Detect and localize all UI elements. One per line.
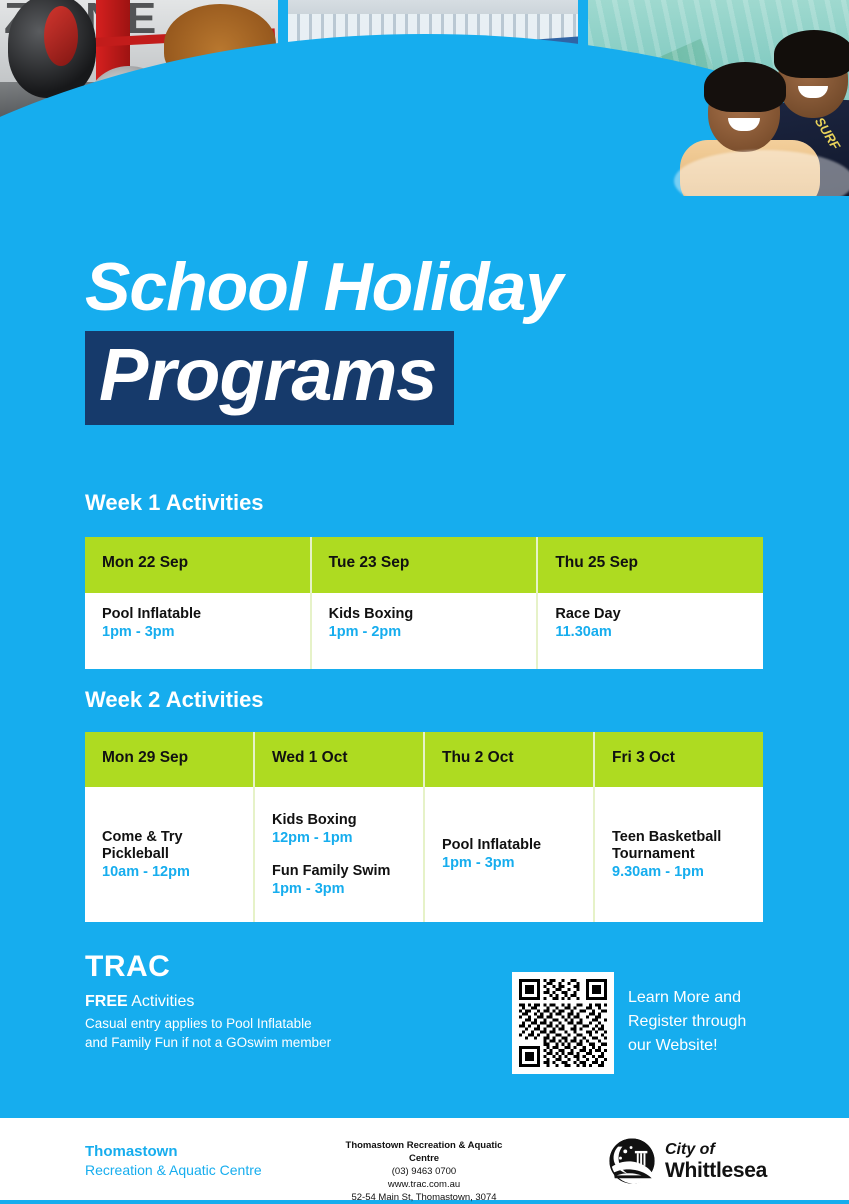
- activity-name: Race Day: [555, 606, 763, 623]
- day-header: Tue 23 Sep: [312, 537, 537, 593]
- week-1-heading: Week 1 Activities: [85, 490, 264, 516]
- day-body: Teen Basketball Tournament 9.30am - 1pm: [595, 787, 763, 922]
- qr-caption-line-2: Register through: [628, 1010, 746, 1034]
- hero-photo-band: ZONE City of Whittlesea SURF: [0, 0, 849, 232]
- table-column: Tue 23 Sep Kids Boxing 1pm - 2pm: [312, 537, 539, 669]
- trac-brand-line-2: Recreation & Aquatic Centre: [85, 1161, 262, 1179]
- day-header: Fri 3 Oct: [595, 732, 763, 787]
- activity-name: Kids Boxing: [272, 812, 423, 829]
- activity-time: 1pm - 3pm: [102, 623, 310, 641]
- qr-caption-line-3: our Website!: [628, 1034, 746, 1058]
- day-body: Pool Inflatable 1pm - 3pm: [85, 593, 310, 669]
- activities-label: Activities: [128, 993, 195, 1010]
- contact-phone: (03) 9463 0700: [334, 1165, 514, 1178]
- activity-time: 9.30am - 1pm: [612, 863, 763, 881]
- footer-contact-block: Thomastown Recreation & Aquatic Centre (…: [334, 1139, 514, 1204]
- contact-name: Thomastown Recreation & Aquatic Centre: [334, 1139, 514, 1165]
- day-header: Mon 29 Sep: [85, 732, 253, 787]
- trac-note-line-1: Casual entry applies to Pool Inflatable: [85, 1014, 331, 1033]
- week-2-heading: Week 2 Activities: [85, 687, 264, 713]
- trac-brand-line-1: Thomastown: [85, 1143, 262, 1161]
- trac-note: Casual entry applies to Pool Inflatable …: [85, 1014, 331, 1052]
- trac-heading: TRAC: [85, 950, 170, 984]
- day-body: Race Day 11.30am: [538, 593, 763, 669]
- activity-time: 12pm - 1pm: [272, 829, 423, 847]
- whittlesea-emblem-icon: [608, 1137, 656, 1185]
- contact-address: 52-54 Main St, Thomastown, 3074: [334, 1191, 514, 1204]
- council-line-2: Whittlesea: [665, 1159, 767, 1182]
- table-column: Mon 29 Sep Come & Try Pickleball 10am - …: [85, 732, 255, 922]
- day-body: Pool Inflatable 1pm - 3pm: [425, 787, 593, 922]
- day-body: Kids Boxing 12pm - 1pm Fun Family Swim 1…: [255, 787, 423, 922]
- qr-caption: Learn More and Register through our Webs…: [628, 986, 746, 1058]
- week-2-table: Mon 29 Sep Come & Try Pickleball 10am - …: [85, 732, 763, 922]
- activity-name: Kids Boxing: [329, 606, 537, 623]
- table-column: Mon 22 Sep Pool Inflatable 1pm - 3pm: [85, 537, 312, 669]
- activity-name: Fun Family Swim: [272, 863, 423, 880]
- day-header: Wed 1 Oct: [255, 732, 423, 787]
- week-1-table: Mon 22 Sep Pool Inflatable 1pm - 3pm Tue…: [85, 537, 763, 669]
- day-header: Thu 2 Oct: [425, 732, 593, 787]
- title-line-1: School Holiday: [85, 250, 765, 324]
- activity-time: 1pm - 3pm: [272, 880, 423, 898]
- trac-note-line-2: and Family Fun if not a GOswim member: [85, 1033, 331, 1052]
- qr-code[interactable]: [512, 972, 614, 1074]
- day-body: Kids Boxing 1pm - 2pm: [312, 593, 537, 669]
- activity-name: Come & Try Pickleball: [102, 829, 253, 863]
- day-header: Thu 25 Sep: [538, 537, 763, 593]
- poster-title: School Holiday Programs: [85, 250, 765, 425]
- table-column: Thu 25 Sep Race Day 11.30am: [538, 537, 763, 669]
- city-of-whittlesea-logo: City of Whittlesea: [608, 1137, 767, 1185]
- activity-time: 1pm - 3pm: [442, 854, 593, 872]
- activity-name: Teen Basketball Tournament: [612, 829, 763, 863]
- title-line-2: Programs: [99, 335, 436, 415]
- title-highlight-box: Programs: [85, 331, 454, 425]
- activity-name: Pool Inflatable: [442, 837, 593, 854]
- free-activities-line: FREE Activities: [85, 993, 194, 1011]
- activity-time: 11.30am: [555, 623, 763, 641]
- trac-footer-logo: Thomastown Recreation & Aquatic Centre: [85, 1143, 262, 1179]
- qr-caption-line-1: Learn More and: [628, 986, 746, 1010]
- activity-time: 10am - 12pm: [102, 863, 253, 881]
- free-label: FREE: [85, 993, 128, 1010]
- day-header: Mon 22 Sep: [85, 537, 310, 593]
- activity-time: 1pm - 2pm: [329, 623, 537, 641]
- table-column: Fri 3 Oct Teen Basketball Tournament 9.3…: [595, 732, 763, 922]
- day-body: Come & Try Pickleball 10am - 12pm: [85, 787, 253, 922]
- table-column: Thu 2 Oct Pool Inflatable 1pm - 3pm: [425, 732, 595, 922]
- council-line-1: City of: [665, 1140, 767, 1159]
- contact-website[interactable]: www.trac.com.au: [334, 1178, 514, 1191]
- qr-code-icon: [519, 979, 607, 1067]
- activity-name: Pool Inflatable: [102, 606, 310, 623]
- table-column: Wed 1 Oct Kids Boxing 12pm - 1pm Fun Fam…: [255, 732, 425, 922]
